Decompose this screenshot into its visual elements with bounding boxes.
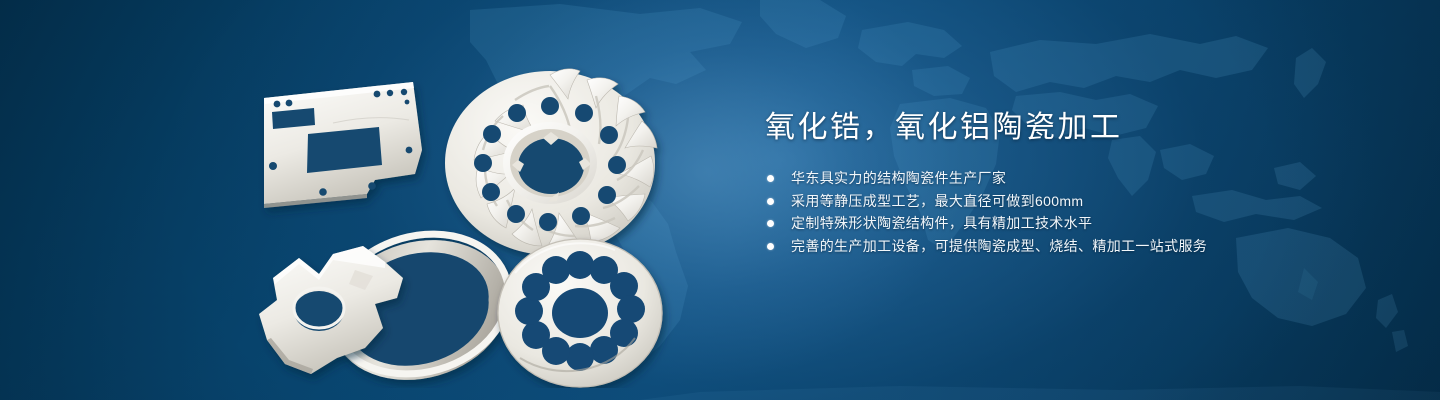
bullet-dot-icon xyxy=(767,198,774,205)
ceramic-parts-photo xyxy=(215,28,705,388)
list-item: 定制特殊形状陶瓷结构件，具有精加工技术水平 xyxy=(765,212,1385,235)
ceramic-plate-part xyxy=(264,82,422,208)
bullet-dot-icon xyxy=(767,220,774,227)
bullet-dot-icon xyxy=(767,175,774,182)
list-item-label: 完善的生产加工设备，可提供陶瓷成型、烧结、精加工一站式服务 xyxy=(791,238,1207,254)
list-item: 华东具实力的结构陶瓷件生产厂家 xyxy=(765,167,1385,190)
list-item-label: 采用等静压成型工艺，最大直径可做到600mm xyxy=(791,193,1083,209)
bullet-dot-icon xyxy=(767,243,774,250)
page-title: 氧化锆，氧化铝陶瓷加工 xyxy=(765,108,1385,148)
ceramic-perforated-disc-part xyxy=(498,239,662,387)
list-item-label: 定制特殊形状陶瓷结构件，具有精加工技术水平 xyxy=(791,215,1092,231)
ceramic-impeller-part xyxy=(445,69,657,255)
hero-banner: 氧化锆，氧化铝陶瓷加工 华东具实力的结构陶瓷件生产厂家 采用等静压成型工艺，最大… xyxy=(0,0,1440,400)
list-item-label: 华东具实力的结构陶瓷件生产厂家 xyxy=(791,170,1006,186)
banner-copy: 氧化锆，氧化铝陶瓷加工 华东具实力的结构陶瓷件生产厂家 采用等静压成型工艺，最大… xyxy=(765,108,1385,257)
list-item: 采用等静压成型工艺，最大直径可做到600mm xyxy=(765,190,1385,213)
list-item: 完善的生产加工设备，可提供陶瓷成型、烧结、精加工一站式服务 xyxy=(765,235,1385,258)
feature-list: 华东具实力的结构陶瓷件生产厂家 采用等静压成型工艺，最大直径可做到600mm 定… xyxy=(765,167,1385,257)
